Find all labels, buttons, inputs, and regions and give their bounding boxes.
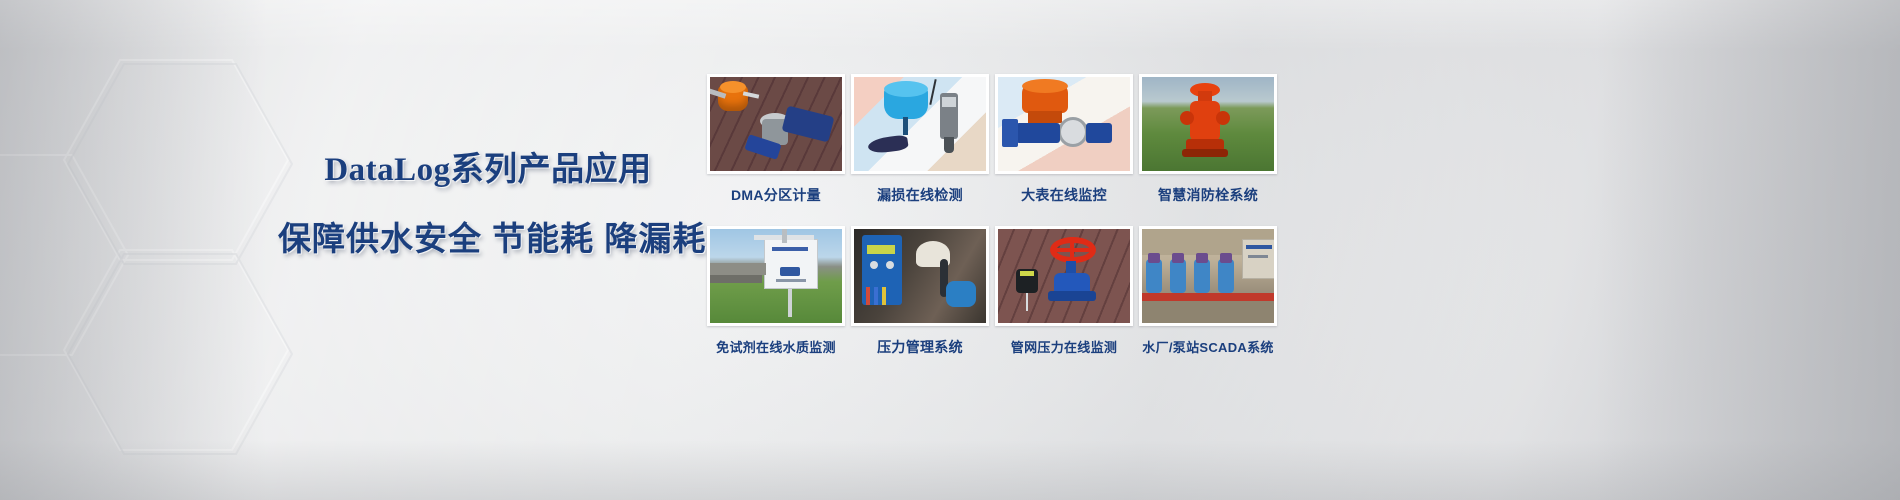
- product-thumbnail[interactable]: [1139, 226, 1277, 326]
- product-caption: 压力管理系统: [877, 337, 963, 357]
- reagent-free-water-quality-monitoring-photo: [710, 229, 842, 323]
- product-caption: 免试剂在线水质监测: [716, 337, 836, 356]
- headline-block: DataLog系列产品应用 保障供水安全 节能耗 降漏耗: [278, 148, 698, 261]
- product-caption: 智慧消防栓系统: [1158, 185, 1258, 205]
- product-thumbnail[interactable]: [851, 226, 989, 326]
- headline-line-1: DataLog系列产品应用: [278, 148, 698, 192]
- product-thumbnail[interactable]: [995, 226, 1133, 326]
- large-meter-monitoring-photo: [998, 77, 1130, 171]
- product-caption: 管网压力在线监测: [1011, 337, 1117, 356]
- dma-metering-chamber-photo: [710, 77, 842, 171]
- product-thumbnail[interactable]: [707, 74, 845, 174]
- leak-detection-device-photo: [854, 77, 986, 171]
- pipe-network-pressure-monitoring-photo: [998, 229, 1130, 323]
- product-card[interactable]: 压力管理系统: [850, 226, 990, 371]
- product-thumbnail[interactable]: [851, 74, 989, 174]
- product-card[interactable]: DMA分区计量: [706, 74, 846, 219]
- product-card[interactable]: 管网压力在线监测: [994, 226, 1134, 371]
- headline-line-2: 保障供水安全 节能耗 降漏耗: [278, 217, 698, 261]
- product-thumbnail[interactable]: [1139, 74, 1277, 174]
- product-card[interactable]: 智慧消防栓系统: [1138, 74, 1278, 219]
- smart-fire-hydrant-photo: [1142, 77, 1274, 171]
- product-card[interactable]: 免试剂在线水质监测: [706, 226, 846, 371]
- product-caption: 漏损在线检测: [877, 185, 963, 205]
- pressure-management-cabinet-photo: [854, 229, 986, 323]
- product-thumbnail[interactable]: [707, 226, 845, 326]
- product-caption: 水厂/泵站SCADA系统: [1142, 337, 1273, 356]
- waterworks-pump-station-scada-photo: [1142, 229, 1274, 323]
- product-thumbnail[interactable]: [995, 74, 1133, 174]
- product-card[interactable]: 漏损在线检测: [850, 74, 990, 219]
- product-caption: DMA分区计量: [731, 185, 821, 205]
- product-card[interactable]: 水厂/泵站SCADA系统: [1138, 226, 1278, 371]
- product-application-banner: DataLog系列产品应用 保障供水安全 节能耗 降漏耗 DMA分区计量: [0, 0, 1900, 500]
- product-caption: 大表在线监控: [1021, 185, 1107, 205]
- product-card-grid: DMA分区计量 漏损在线检测: [706, 74, 1278, 371]
- product-card[interactable]: 大表在线监控: [994, 74, 1134, 219]
